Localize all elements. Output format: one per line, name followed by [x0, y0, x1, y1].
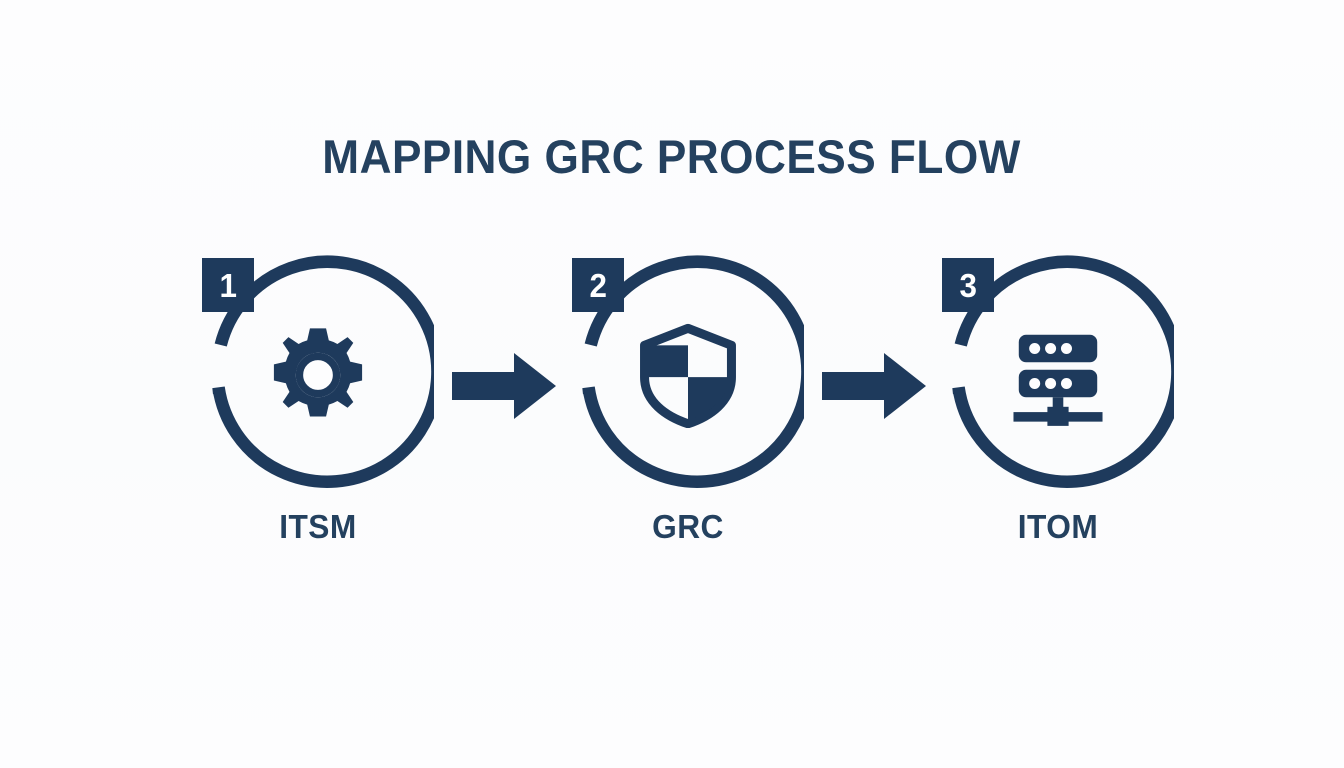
flow-step-1-ring-container: 1	[202, 255, 434, 495]
step-number-3: 3	[959, 269, 976, 302]
title-container: MAPPING GRC PROCESS FLOW	[0, 98, 1344, 216]
step-number-1: 1	[219, 269, 236, 302]
flow-step-3-ring-container: 3	[942, 255, 1174, 495]
flow-step-label-itsm: ITSM	[207, 508, 430, 546]
flow-connector-1	[452, 353, 556, 419]
arrow-right-icon	[822, 353, 926, 419]
step-number-badge-3: 3	[942, 258, 994, 312]
flow-step-label-grc: GRC	[577, 508, 800, 546]
flow-step-grc[interactable]: 2 GRC	[572, 255, 804, 585]
page-title: MAPPING GRC PROCESS FLOW	[323, 129, 1022, 184]
process-flow-row: 1 ITSM	[0, 255, 1344, 585]
infographic-canvas: MAPPING GRC PROCESS FLOW 1	[0, 0, 1344, 768]
shield-icon	[635, 322, 741, 428]
step-number-2: 2	[589, 269, 606, 302]
flow-step-label-itom: ITOM	[947, 508, 1170, 546]
flow-connector-2	[822, 353, 926, 419]
step-number-badge-1: 1	[202, 258, 254, 312]
server-network-icon	[1005, 322, 1111, 428]
arrow-right-icon	[452, 353, 556, 419]
flow-step-itsm[interactable]: 1 ITSM	[202, 255, 434, 585]
gear-icon	[265, 322, 371, 428]
flow-step-2-ring-container: 2	[572, 255, 804, 495]
step-number-badge-2: 2	[572, 258, 624, 312]
flow-step-itom[interactable]: 3 ITOM	[942, 255, 1174, 585]
